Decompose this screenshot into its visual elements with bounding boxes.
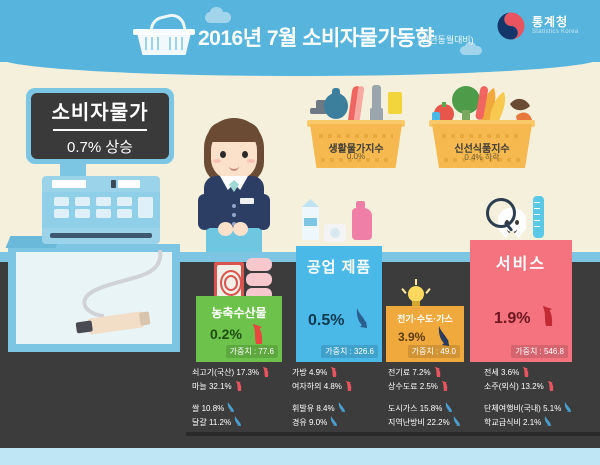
bar-electricity-water-gas[interactable]: 전기·수도·가스 3.9% 가중치 : 49.0 [386, 306, 464, 362]
thermometer-icon [533, 196, 544, 238]
detail-label: 경유 [292, 417, 307, 428]
detail-label: 지역난방비 [388, 417, 425, 428]
detail-label: 전기료 [388, 367, 410, 378]
detail-label: 여자하의 [292, 381, 321, 392]
detail-list-services: 전세 3.6% 소주(외식) 13.2% 단체여행비(국내) 5.1% 학교급식… [484, 366, 594, 430]
bar-title: 전기·수도·가스 [386, 312, 464, 325]
detail-value: 2.1% [523, 418, 541, 427]
page-header: 2016년 7월 소비자물가동향 (전년동월대비) 통계청 Statistics… [0, 0, 600, 62]
list-item: 경유 9.0% [292, 416, 384, 430]
arrow-down-icon [544, 416, 553, 427]
detail-list-industrial: 가방 4.9% 여자하의 4.8% 휘발유 8.4% 경유 9.0% [292, 366, 384, 430]
shelf-divider [186, 432, 600, 436]
list-item: 단체여행비(국내) 5.1% [484, 402, 594, 416]
arrow-up-icon [330, 366, 339, 377]
detail-value: 11.2% [209, 418, 231, 427]
detail-label: 휘발유 [292, 403, 314, 414]
cloud-icon [460, 46, 482, 55]
detail-label: 도시가스 [388, 403, 417, 414]
list-item: 마늘 32.1% [192, 380, 284, 394]
infographic-canvas: 2016년 7월 소비자물가동향 (전년동월대비) 통계청 Statistics… [0, 0, 600, 465]
arrow-up-icon [262, 366, 271, 377]
magnifier-icon [486, 198, 516, 228]
bar-agriculture-livestock-fishery[interactable]: 농축수산물 0.2% 가중치 : 77.6 [196, 296, 282, 362]
detail-value: 5.1% [543, 404, 561, 413]
logo-name-kr: 통계청 [532, 13, 568, 30]
cashier-avatar [196, 118, 272, 248]
shopping-basket-icon [133, 21, 195, 55]
detail-label: 달걀 [192, 417, 207, 428]
list-item: 가방 4.9% [292, 366, 384, 380]
living-price-index-basket: 생활물가지수 0.0% [310, 82, 402, 168]
arrow-down-icon [234, 416, 243, 427]
list-item: 쇠고기(국산) 17.3% [192, 366, 284, 380]
price-monitor: 소비자물가 0.7% 상승 [26, 88, 174, 164]
detail-value: 10.8% [202, 404, 225, 413]
basket-value: 0.4% 하락 [432, 152, 532, 163]
arrow-down-icon [338, 402, 347, 413]
arrow-up-icon [345, 380, 354, 391]
light-bulb-icon [406, 284, 426, 308]
list-item: 전세 3.6% [484, 366, 594, 380]
detail-label: 단체여행비(국내) [484, 403, 541, 414]
bar-percent: 0.2% [210, 326, 242, 342]
cash-register-icon [42, 176, 160, 244]
detail-label: 마늘 [192, 381, 207, 392]
list-item: 상수도료 2.5% [388, 380, 484, 394]
header-wave [0, 58, 600, 76]
arrow-up-icon [441, 380, 450, 391]
arrow-up-icon [547, 380, 556, 391]
milk-carton-icon [302, 206, 319, 240]
list-item: 지역난방비 22.2% [388, 416, 484, 430]
fresh-food-index-basket: 신선식품지수 0.4% 하락 [432, 82, 532, 168]
bar-weight: 가중치 : 326.6 [321, 345, 378, 358]
list-item: 여자하의 4.8% [292, 380, 384, 394]
detail-value: 8.4% [316, 404, 334, 413]
footer-band [0, 448, 600, 465]
list-item: 소주(외식) 13.2% [484, 380, 594, 394]
detail-value: 32.1% [209, 382, 232, 391]
bar-title: 서비스 [470, 250, 572, 274]
detail-value: 9.0% [309, 418, 327, 427]
bar-percent: 1.9% [494, 310, 530, 328]
arrow-up-icon [235, 380, 244, 391]
bar-industrial-products[interactable]: 공업 제품 0.5% 가중치 : 326.6 [296, 246, 382, 362]
statistics-korea-logo: 통계청 Statistics Korea [496, 9, 588, 45]
detail-value: 2.5% [420, 382, 438, 391]
arrow-down-icon [445, 402, 454, 413]
list-item: 쌀 10.8% [192, 402, 284, 416]
detail-label: 쌀 [192, 403, 199, 414]
list-item: 달걀 11.2% [192, 416, 284, 430]
detail-value: 7.2% [412, 368, 430, 377]
arrow-down-icon [354, 308, 370, 330]
scanner-cord [60, 250, 165, 320]
arrow-down-icon [453, 416, 462, 427]
list-item: 도시가스 15.8% [388, 402, 484, 416]
detail-value: 15.8% [420, 404, 443, 413]
detail-value: 13.2% [521, 382, 544, 391]
bar-services[interactable]: 서비스 1.9% 가중치 : 546.8 [470, 240, 572, 362]
detail-label: 학교급식비 [484, 417, 521, 428]
page-subtitle: (전년동월대비) [418, 33, 474, 46]
toilet-paper-icon [324, 224, 346, 242]
bar-weight: 가중치 : 77.6 [226, 345, 278, 358]
list-item: 휘발유 8.4% [292, 402, 384, 416]
monitor-value: 0.7% 상승 [67, 136, 133, 157]
monitor-headline: 소비자물가 [52, 96, 149, 125]
detail-value: 4.8% [324, 382, 342, 391]
basket-value: 0.0% [310, 152, 402, 161]
detail-label: 가방 [292, 367, 307, 378]
detail-value: 22.2% [427, 418, 450, 427]
list-item: 전기료 7.2% [388, 366, 484, 380]
detergent-bottle-icon [352, 208, 372, 240]
arrow-up-icon [250, 322, 266, 344]
detail-value: 17.3% [236, 368, 259, 377]
taegeuk-icon [496, 11, 526, 41]
arrow-down-icon [564, 402, 573, 413]
detail-value: 4.9% [309, 368, 327, 377]
bar-weight: 가중치 : 546.8 [511, 345, 568, 358]
detail-value: 3.6% [501, 368, 519, 377]
arrow-up-icon [522, 366, 531, 377]
detail-label: 소주(외식) [484, 381, 519, 392]
arrow-down-icon [330, 416, 339, 427]
detail-list-utilities: 전기료 7.2% 상수도료 2.5% 도시가스 15.8% 지역난방비 22.2… [388, 366, 484, 430]
arrow-down-icon [227, 402, 236, 413]
page-title: 2016년 7월 소비자물가동향 [198, 22, 434, 52]
bar-percent: 3.9% [398, 330, 425, 344]
logo-name-en: Statistics Korea [532, 29, 578, 35]
list-item: 학교급식비 2.1% [484, 416, 594, 430]
arrow-up-icon [540, 304, 556, 326]
bar-percent: 0.5% [308, 312, 344, 330]
detail-label: 전세 [484, 367, 499, 378]
bar-weight: 가중치 : 49.0 [408, 345, 460, 358]
bar-title: 농축수산물 [196, 304, 282, 321]
detail-label: 쇠고기(국산) [192, 367, 234, 378]
bar-title: 공업 제품 [296, 256, 382, 277]
detail-list-agriculture: 쇠고기(국산) 17.3% 마늘 32.1% 쌀 10.8% 달걀 11.2% [192, 366, 284, 430]
detail-label: 상수도료 [388, 381, 417, 392]
arrow-up-icon [434, 366, 443, 377]
